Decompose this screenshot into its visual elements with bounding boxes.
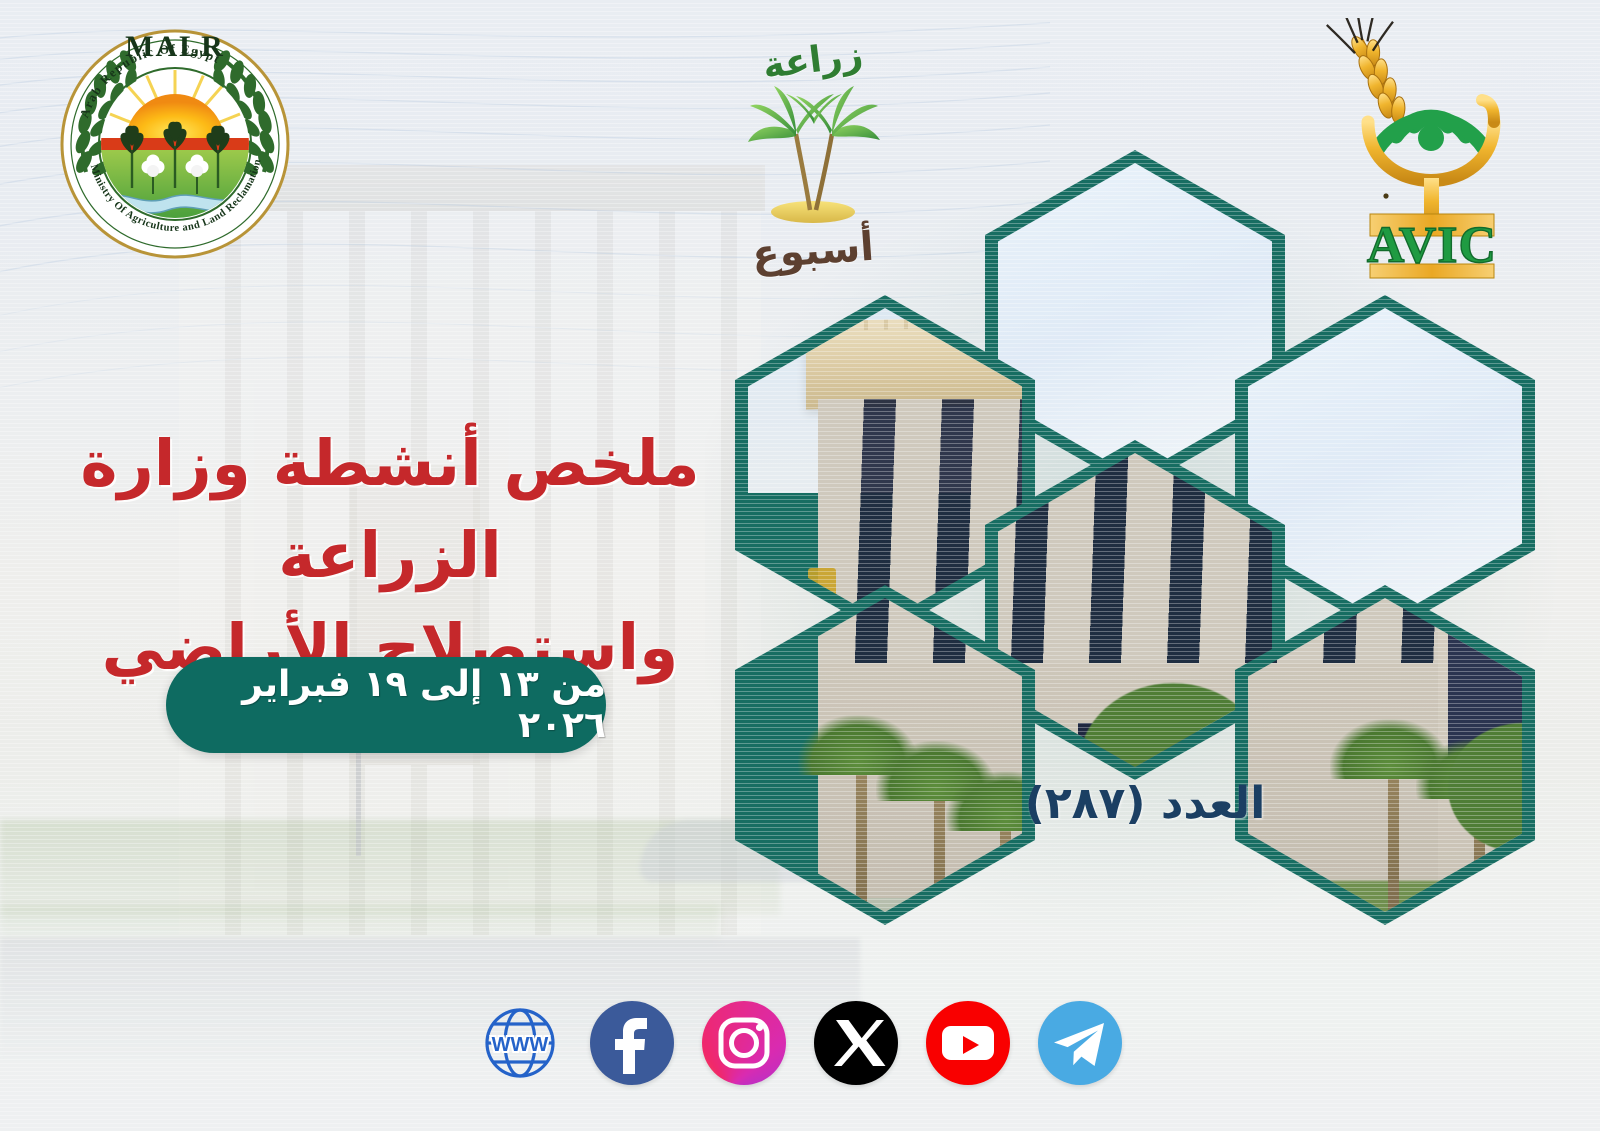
instagram-icon[interactable] — [702, 1001, 786, 1085]
malr-seal-logo: Arab Republic Of Egypt Ministry Of Agric… — [40, 22, 310, 272]
youtube-icon[interactable] — [926, 1001, 1010, 1085]
agriweek-top-word: زراعة — [736, 31, 890, 90]
hexagon-lower-right — [1235, 585, 1535, 925]
telegram-icon[interactable] — [1038, 1001, 1122, 1085]
background-street-lamp — [356, 736, 361, 856]
poster-canvas: Arab Republic Of Egypt Ministry Of Agric… — [0, 0, 1600, 1131]
agriculture-week-logo: زراعة — [738, 40, 888, 270]
svg-text:AVIC: AVIC — [1367, 217, 1497, 274]
facebook-icon[interactable] — [590, 1001, 674, 1085]
social-links-bar: WWW — [0, 988, 1600, 1098]
palm-tree-icon — [738, 84, 888, 234]
page-title: ملخص أنشطة وزارة الزراعة واستصلاح الأراض… — [60, 418, 720, 694]
x-twitter-icon[interactable] — [814, 1001, 898, 1085]
svg-text:WWW: WWW — [492, 1034, 549, 1056]
hexagon-lower-left — [735, 585, 1035, 925]
page-title-line-1: ملخص أنشطة وزارة الزراعة — [60, 418, 720, 602]
date-range-badge[interactable]: من ١٣ إلى ١٩ فبراير ٢٠٢٦ — [166, 657, 606, 753]
issue-number-label: العدد (٢٨٧) — [1010, 778, 1280, 829]
svg-text:MALR: MALR — [125, 30, 225, 63]
website-www-icon[interactable]: WWW — [478, 1001, 562, 1085]
date-range-label: من ١٣ إلى ١٩ فبراير ٢٠٢٦ — [166, 664, 606, 746]
avic-logo: AVIC — [1296, 18, 1546, 280]
